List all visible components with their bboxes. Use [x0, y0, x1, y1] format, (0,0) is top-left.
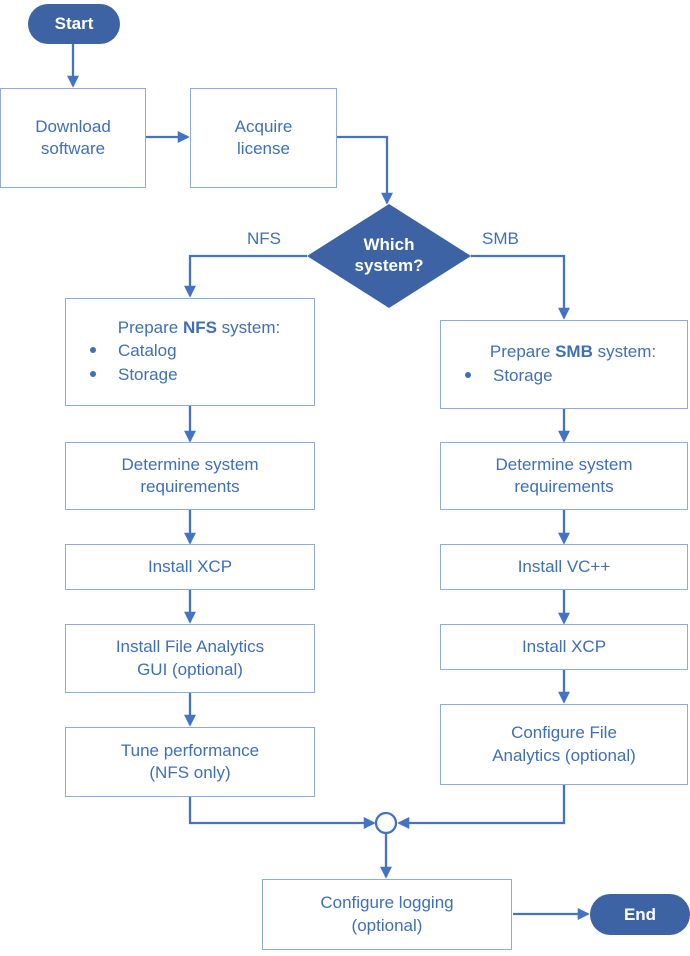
bullet-dot-icon — [465, 372, 471, 378]
node-download-software[interactable]: Download software — [0, 88, 146, 188]
node-start-label: Start — [55, 14, 94, 34]
text-line-2: (NFS only) — [121, 762, 259, 784]
text-line-2: system? — [355, 256, 424, 277]
text-line-1: Configure File — [511, 723, 617, 742]
node-decision-label: Which system? — [355, 235, 424, 276]
node-smb-determine-requirements[interactable]: Determine system requirements — [440, 442, 688, 510]
text-line-2: requirements — [496, 476, 633, 498]
node-decision-which-system[interactable]: Which system? — [307, 204, 471, 308]
title-suffix: system: — [217, 318, 280, 337]
text-line-1: Which — [363, 235, 414, 254]
node-smb-configure-file-analytics[interactable]: Configure File Analytics (optional) — [440, 704, 688, 785]
bullet-dot-icon — [90, 371, 96, 377]
text-line-2: Analytics (optional) — [492, 745, 636, 767]
node-prepare-nfs-bullets: Catalog Storage — [90, 340, 308, 386]
node-nfs-install-gui-label: Install File Analytics GUI (optional) — [116, 636, 264, 681]
text-line-2: requirements — [122, 476, 259, 498]
node-smb-determine-label: Determine system requirements — [496, 454, 633, 499]
text-line-2: GUI (optional) — [116, 659, 264, 681]
text-line-1: Acquire — [235, 117, 293, 136]
edge-decision-to-prepare-smb — [471, 256, 564, 318]
list-item: Storage — [90, 364, 308, 386]
title-prefix: Prepare — [118, 318, 183, 337]
text-line-1: Determine system — [122, 455, 259, 474]
list-item: Catalog — [90, 340, 308, 362]
edge-decision-to-prepare-nfs — [190, 256, 307, 296]
node-configure-logging[interactable]: Configure logging (optional) — [262, 879, 512, 950]
node-nfs-install-file-analytics-gui[interactable]: Install File Analytics GUI (optional) — [65, 624, 315, 693]
node-smb-configure-fa-label: Configure File Analytics (optional) — [492, 722, 636, 767]
node-smb-install-xcp[interactable]: Install XCP — [440, 624, 688, 670]
title-emphasis: SMB — [555, 342, 593, 361]
text-line-2: software — [35, 138, 111, 160]
node-start[interactable]: Start — [28, 4, 120, 44]
edge-nfs-tune-to-merge — [190, 797, 374, 823]
list-item-label: Storage — [493, 365, 553, 387]
node-acquire-license-label: Acquire license — [235, 116, 293, 161]
node-prepare-smb-content: Prepare SMB system: Storage — [447, 341, 681, 388]
merge-circle — [376, 813, 396, 833]
bullet-dot-icon — [90, 347, 96, 353]
node-smb-install-vcpp-label: Install VC++ — [518, 556, 611, 578]
text-line-1: Download — [35, 117, 111, 136]
text-line-1: Configure logging — [320, 893, 453, 912]
node-end[interactable]: End — [590, 894, 690, 935]
node-configure-logging-label: Configure logging (optional) — [320, 892, 453, 937]
node-prepare-nfs-content: Prepare NFS system: Catalog Storage — [72, 317, 308, 387]
node-prepare-smb-bullets: Storage — [465, 365, 681, 387]
text-line-1: Tune performance — [121, 741, 259, 760]
node-prepare-nfs-system[interactable]: Prepare NFS system: Catalog Storage — [65, 298, 315, 406]
node-prepare-smb-system[interactable]: Prepare SMB system: Storage — [440, 320, 688, 409]
title-emphasis: NFS — [183, 318, 217, 337]
edge-acquire-to-decision — [337, 137, 387, 203]
edge-label-nfs: NFS — [247, 229, 281, 249]
text-line-2: (optional) — [320, 915, 453, 937]
node-end-label: End — [624, 905, 656, 925]
node-download-software-label: Download software — [35, 116, 111, 161]
node-nfs-install-xcp[interactable]: Install XCP — [65, 544, 315, 590]
node-smb-install-xcp-label: Install XCP — [522, 636, 606, 658]
title-prefix: Prepare — [490, 342, 555, 361]
node-smb-install-vcpp[interactable]: Install VC++ — [440, 544, 688, 590]
flowchart-canvas: Start Download software Acquire license … — [0, 0, 690, 956]
list-item-label: Catalog — [118, 340, 177, 362]
edge-label-smb: SMB — [482, 229, 519, 249]
node-nfs-tune-performance[interactable]: Tune performance (NFS only) — [65, 727, 315, 797]
node-nfs-install-xcp-label: Install XCP — [148, 556, 232, 578]
text-line-1: Determine system — [496, 455, 633, 474]
list-item: Storage — [465, 365, 681, 387]
text-line-1: Install File Analytics — [116, 637, 264, 656]
list-item-label: Storage — [118, 364, 178, 386]
node-acquire-license[interactable]: Acquire license — [190, 88, 337, 188]
node-nfs-tune-label: Tune performance (NFS only) — [121, 740, 259, 785]
node-prepare-smb-title: Prepare SMB system: — [465, 341, 681, 363]
node-nfs-determine-label: Determine system requirements — [122, 454, 259, 499]
text-line-2: license — [235, 138, 293, 160]
node-prepare-nfs-title: Prepare NFS system: — [90, 317, 308, 339]
edge-smb-configure-to-merge — [399, 785, 564, 823]
title-suffix: system: — [593, 342, 656, 361]
node-nfs-determine-requirements[interactable]: Determine system requirements — [65, 442, 315, 510]
